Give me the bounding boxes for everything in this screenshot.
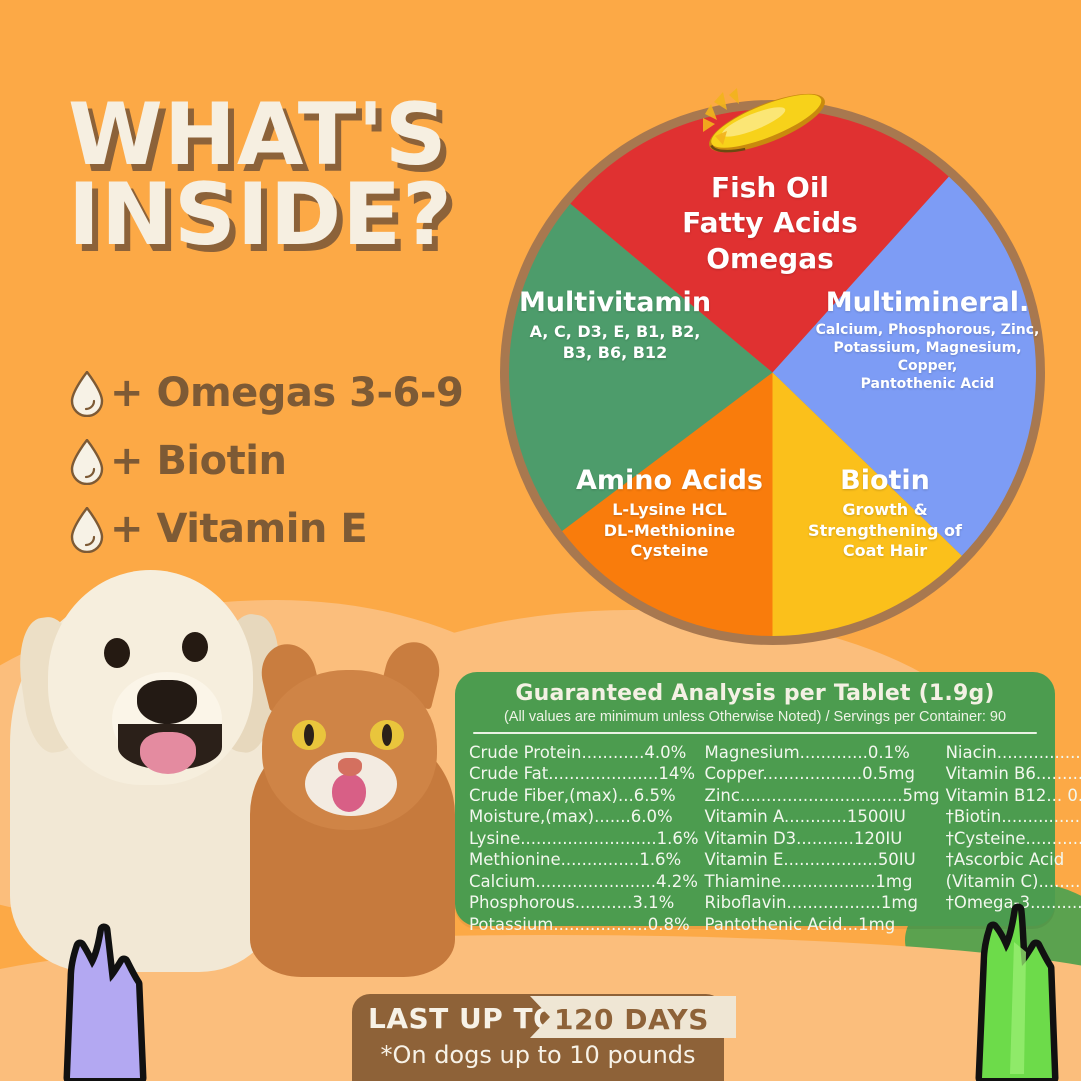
cat-tongue bbox=[332, 774, 366, 812]
guaranteed-analysis-subtitle: (All values are minimum unless Otherwise… bbox=[455, 706, 1055, 725]
flame-purple-icon bbox=[52, 922, 162, 1081]
duration-banner-ribbon: 120 DAYS bbox=[520, 996, 736, 1038]
analysis-item: Vitamin B6.............1mg bbox=[946, 763, 1081, 784]
duration-banner-highlight: 120 DAYS bbox=[554, 1003, 709, 1036]
analysis-item: Thiamine..................1mg bbox=[705, 871, 940, 892]
pie-label-multivitamin-title: Multivitamin bbox=[500, 288, 730, 318]
feature-label: + Biotin bbox=[110, 438, 286, 484]
duration-banner-note: *On dogs up to 10 pounds bbox=[352, 1041, 724, 1069]
feature-item: + Vitamin E bbox=[70, 498, 463, 560]
dog-eye-left bbox=[104, 638, 130, 668]
dog-eye-right bbox=[182, 632, 208, 662]
analysis-item: †Cysteine................1.6% bbox=[946, 828, 1081, 849]
pie-label-fish-oil-line1: Fish Oil bbox=[640, 170, 900, 205]
cat-nose bbox=[338, 758, 362, 776]
droplet-icon bbox=[70, 439, 104, 483]
pie-label-biotin-title: Biotin bbox=[790, 466, 980, 496]
cat-pupil-left bbox=[304, 724, 314, 746]
pie-label-fish-oil: Fish Oil Fatty Acids Omegas bbox=[640, 170, 900, 276]
pie-label-multimineral-title: Multimineral. bbox=[810, 288, 1045, 318]
pie-label-biotin-sub1: Growth & bbox=[790, 500, 980, 520]
dog-tongue bbox=[140, 732, 196, 774]
pie-label-fish-oil-line3: Omegas bbox=[640, 241, 900, 276]
pie-label-multimineral-sub1: Calcium, Phosphorous, Zinc, bbox=[810, 322, 1045, 340]
analysis-item: Crude Protein............4.0% bbox=[469, 742, 699, 763]
feature-label: + Vitamin E bbox=[110, 506, 367, 552]
guaranteed-analysis-panel: Guaranteed Analysis per Tablet (1.9g) (A… bbox=[455, 672, 1055, 926]
feature-label: + Omegas 3-6-9 bbox=[110, 370, 463, 416]
pie-label-multivitamin: Multivitamin A, C, D3, E, B1, B2, B3, B6… bbox=[500, 288, 730, 363]
analysis-item: †Biotin.......................3mg bbox=[946, 806, 1081, 827]
analysis-item: Riboflavin..................1mg bbox=[705, 892, 940, 913]
analysis-item: Methionine...............1.6% bbox=[469, 849, 699, 870]
pie-label-biotin: Biotin Growth & Strengthening of Coat Ha… bbox=[790, 466, 980, 562]
droplet-icon bbox=[70, 371, 104, 415]
analysis-item: Niacin.......................1mg bbox=[946, 742, 1081, 763]
analysis-item: (Vitamin C)...........50mg bbox=[946, 871, 1081, 892]
duration-banner-label: LAST UP TO bbox=[368, 1002, 557, 1035]
analysis-item: Vitamin B12... 0.001mg bbox=[946, 785, 1081, 806]
pie-label-multivitamin-sub1: A, C, D3, E, B1, B2, bbox=[500, 322, 730, 342]
pie-label-amino-acids-sub1: L-Lysine HCL bbox=[552, 500, 787, 520]
feature-item: + Biotin bbox=[70, 430, 463, 492]
pie-label-biotin-sub3: Coat Hair bbox=[790, 541, 980, 561]
analysis-item: Magnesium.............0.1% bbox=[705, 742, 940, 763]
guaranteed-analysis-title: Guaranteed Analysis per Tablet (1.9g) bbox=[455, 672, 1055, 706]
analysis-item: Vitamin D3...........120IU bbox=[705, 828, 940, 849]
analysis-item: Copper...................0.5mg bbox=[705, 763, 940, 784]
pie-label-amino-acids-sub3: Cysteine bbox=[552, 541, 787, 561]
analysis-item: Potassium..................0.8% bbox=[469, 914, 699, 935]
duration-banner: LAST UP TO 120 DAYS *On dogs up to 10 po… bbox=[352, 994, 724, 1081]
page-title-line-1: WHAT'S bbox=[68, 96, 453, 176]
pets-photo bbox=[0, 552, 430, 972]
analysis-item: Moisture,(max).......6.0% bbox=[469, 806, 699, 827]
pie-label-fish-oil-line2: Fatty Acids bbox=[640, 205, 900, 240]
pie-label-multimineral-sub2: Potassium, Magnesium, Copper, bbox=[810, 340, 1045, 376]
analysis-item: Phosphorous...........3.1% bbox=[469, 892, 699, 913]
analysis-item: †Ascorbic Acid bbox=[946, 849, 1081, 870]
feature-list: + Omegas 3-6-9 + Biotin + Vitamin E bbox=[70, 362, 463, 566]
guaranteed-analysis-column-2: Magnesium.............0.1% Copper.......… bbox=[705, 742, 940, 935]
analysis-item: Vitamin A............1500IU bbox=[705, 806, 940, 827]
analysis-item: Vitamin E..................50IU bbox=[705, 849, 940, 870]
dog-nose bbox=[137, 680, 197, 724]
feature-item: + Omegas 3-6-9 bbox=[70, 362, 463, 424]
flame-green-icon bbox=[962, 902, 1072, 1081]
guaranteed-analysis-column-1: Crude Protein............4.0% Crude Fat.… bbox=[469, 742, 699, 935]
duration-banner-row: LAST UP TO 120 DAYS bbox=[352, 994, 724, 1038]
page-title: WHAT'S INSIDE? bbox=[68, 96, 453, 256]
analysis-item: Calcium.......................4.2% bbox=[469, 871, 699, 892]
cat-pupil-right bbox=[382, 724, 392, 746]
analysis-item: Pantothenic Acid...1mg bbox=[705, 914, 940, 935]
pie-label-amino-acids-title: Amino Acids bbox=[552, 466, 787, 496]
fish-oil-capsule-icon bbox=[697, 78, 837, 164]
analysis-item: Crude Fiber,(max)...6.5% bbox=[469, 785, 699, 806]
analysis-item: Zinc...............................5mg bbox=[705, 785, 940, 806]
pie-label-multivitamin-sub2: B3, B6, B12 bbox=[500, 343, 730, 363]
pie-label-amino-acids-sub2: DL-Methionine bbox=[552, 521, 787, 541]
droplet-icon bbox=[70, 507, 104, 551]
pie-label-biotin-sub2: Strengthening of bbox=[790, 521, 980, 541]
infographic-canvas: WHAT'S INSIDE? + Omegas 3-6-9 + Biotin +… bbox=[0, 0, 1081, 1081]
analysis-item: Crude Fat.....................14% bbox=[469, 763, 699, 784]
pie-label-amino-acids: Amino Acids L-Lysine HCL DL-Methionine C… bbox=[552, 466, 787, 562]
page-title-line-2: INSIDE? bbox=[68, 176, 453, 256]
pie-label-multimineral: Multimineral. Calcium, Phosphorous, Zinc… bbox=[810, 288, 1045, 394]
analysis-item: Lysine..........................1.6% bbox=[469, 828, 699, 849]
pie-label-multimineral-sub3: Pantothenic Acid bbox=[810, 376, 1045, 394]
